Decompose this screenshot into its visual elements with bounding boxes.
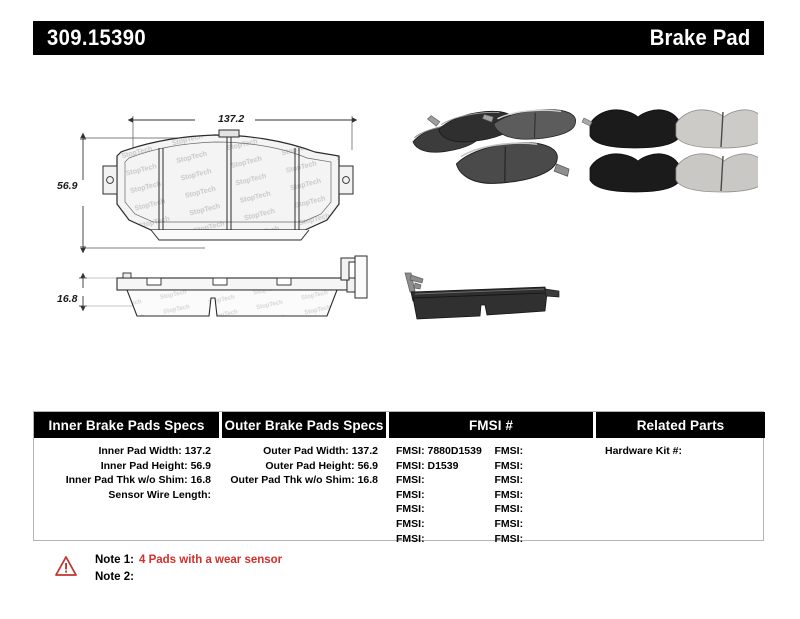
spec-value: 56.9 — [191, 460, 211, 472]
fmsi-row: FMSI: D1539 — [396, 459, 495, 474]
fmsi-row: FMSI: — [495, 488, 594, 503]
spec-label: Outer Pad Width: — [263, 445, 349, 457]
related-part-row: Hardware Kit #: — [596, 444, 765, 459]
note-1-label: Note 1: — [95, 554, 134, 566]
fmsi-label: FMSI: — [396, 445, 425, 457]
note-2-text — [134, 571, 139, 583]
fmsi-row: FMSI: 7880D1539 — [396, 444, 495, 459]
column-body-fmsi: FMSI: 7880D1539 FMSI: D1539 FMSI: FMSI: — [389, 438, 593, 540]
fmsi-row: FMSI: — [396, 517, 495, 532]
fmsi-label: FMSI: — [495, 503, 524, 515]
spec-row: Inner Pad Thk w/o Shim: 16.8 — [34, 473, 219, 488]
note-2-label: Note 2: — [95, 571, 134, 583]
title-bar: 309.15390 Brake Pad — [33, 21, 764, 55]
pad-front-view-drawing: StopTech — [55, 108, 395, 258]
header-divider — [219, 412, 222, 438]
fmsi-row: FMSI: — [396, 502, 495, 517]
fmsi-left-column: FMSI: 7880D1539 FMSI: D1539 FMSI: FMSI: — [396, 444, 495, 546]
thickness-dimension-label: 16.8 — [57, 293, 77, 305]
spec-label: Inner Pad Thk w/o Shim: — [66, 474, 188, 486]
spec-row: Outer Pad Height: 56.9 — [222, 459, 386, 474]
fmsi-label: FMSI: — [396, 474, 425, 486]
note-1-row: Note 1:4 Pads with a wear sensor — [95, 554, 282, 566]
fmsi-row: FMSI: — [396, 488, 495, 503]
spec-value: 56.9 — [358, 460, 378, 472]
fmsi-row: FMSI: — [396, 473, 495, 488]
pad-side-view-drawing: StopTech — [55, 250, 395, 340]
warning-triangle-icon — [55, 556, 77, 576]
table-column-outer: Outer Brake Pads Specs Outer Pad Width: … — [222, 412, 386, 540]
fmsi-row: FMSI: — [495, 502, 594, 517]
note-1-text: 4 Pads with a wear sensor — [134, 554, 282, 566]
fmsi-label: FMSI: — [495, 489, 524, 501]
spec-label: Outer Pad Thk w/o Shim: — [230, 474, 354, 486]
drawing-area: StopTech — [0, 60, 800, 400]
column-body-inner: Inner Pad Width: 137.2 Inner Pad Height:… — [34, 438, 219, 540]
column-header-fmsi: FMSI # — [389, 412, 593, 438]
fmsi-value: 7880D1539 — [428, 445, 482, 457]
notes-section: Note 1:4 Pads with a wear sensor Note 2: — [55, 552, 455, 596]
table-column-fmsi: FMSI # FMSI: 7880D1539 FMSI: D1539 FMSI: — [389, 412, 593, 540]
spec-row: Inner Pad Height: 56.9 — [34, 459, 219, 474]
column-header-inner: Inner Brake Pads Specs — [34, 412, 219, 438]
table-column-inner: Inner Brake Pads Specs Inner Pad Width: … — [34, 412, 219, 540]
fmsi-label: FMSI: — [495, 460, 524, 472]
fmsi-right-column: FMSI: FMSI: FMSI: FMSI: — [495, 444, 594, 546]
width-dimension-label: 137.2 — [218, 113, 244, 125]
spec-row: Outer Pad Width: 137.2 — [222, 444, 386, 459]
four-pads-grid-photo — [578, 100, 758, 198]
header-divider — [386, 412, 389, 438]
fmsi-label: FMSI: — [495, 533, 524, 545]
fmsi-row: FMSI: — [495, 473, 594, 488]
column-header-outer: Outer Brake Pads Specs — [222, 412, 386, 438]
column-body-related-parts: Hardware Kit #: — [596, 438, 765, 540]
spec-label: Inner Pad Height: — [101, 460, 188, 472]
column-header-related-parts: Related Parts — [596, 412, 765, 438]
fmsi-label: FMSI: — [396, 460, 425, 472]
part-number: 309.15390 — [47, 25, 146, 51]
fmsi-row: FMSI: — [495, 444, 594, 459]
page-title: Brake Pad — [649, 25, 750, 51]
fmsi-label: FMSI: — [495, 518, 524, 530]
spec-value: 137.2 — [185, 445, 211, 457]
pad-side-profile-photo — [395, 265, 575, 335]
fmsi-value: D1539 — [428, 460, 459, 472]
fmsi-label: FMSI: — [396, 489, 425, 501]
fmsi-label: FMSI: — [396, 518, 425, 530]
fmsi-label: FMSI: — [396, 503, 425, 515]
fmsi-row: FMSI: — [396, 532, 495, 547]
spec-value: 16.8 — [358, 474, 378, 486]
fmsi-row: FMSI: — [495, 532, 594, 547]
spec-row: Sensor Wire Length: — [34, 488, 219, 503]
note-2-row: Note 2: — [95, 571, 139, 583]
table-column-related-parts: Related Parts Hardware Kit #: — [596, 412, 765, 540]
spec-label: Outer Pad Height: — [265, 460, 354, 472]
fmsi-row: FMSI: — [495, 459, 594, 474]
related-part-label: Hardware Kit #: — [605, 445, 682, 457]
fmsi-label: FMSI: — [495, 474, 524, 486]
spec-row: Outer Pad Thk w/o Shim: 16.8 — [222, 473, 386, 488]
spec-label: Inner Pad Width: — [98, 445, 181, 457]
fmsi-label: FMSI: — [495, 445, 524, 457]
height-dimension-label: 56.9 — [57, 180, 77, 192]
specs-table: Inner Brake Pads Specs Inner Pad Width: … — [33, 411, 764, 541]
spec-label: Sensor Wire Length: — [108, 489, 211, 501]
spec-value: 16.8 — [191, 474, 211, 486]
header-divider — [593, 412, 596, 438]
fmsi-label: FMSI: — [396, 533, 425, 545]
spec-row: Inner Pad Width: 137.2 — [34, 444, 219, 459]
fmsi-row: FMSI: — [495, 517, 594, 532]
spec-value: 137.2 — [352, 445, 378, 457]
column-body-outer: Outer Pad Width: 137.2 Outer Pad Height:… — [222, 438, 386, 540]
four-pads-angled-photo — [393, 100, 578, 200]
